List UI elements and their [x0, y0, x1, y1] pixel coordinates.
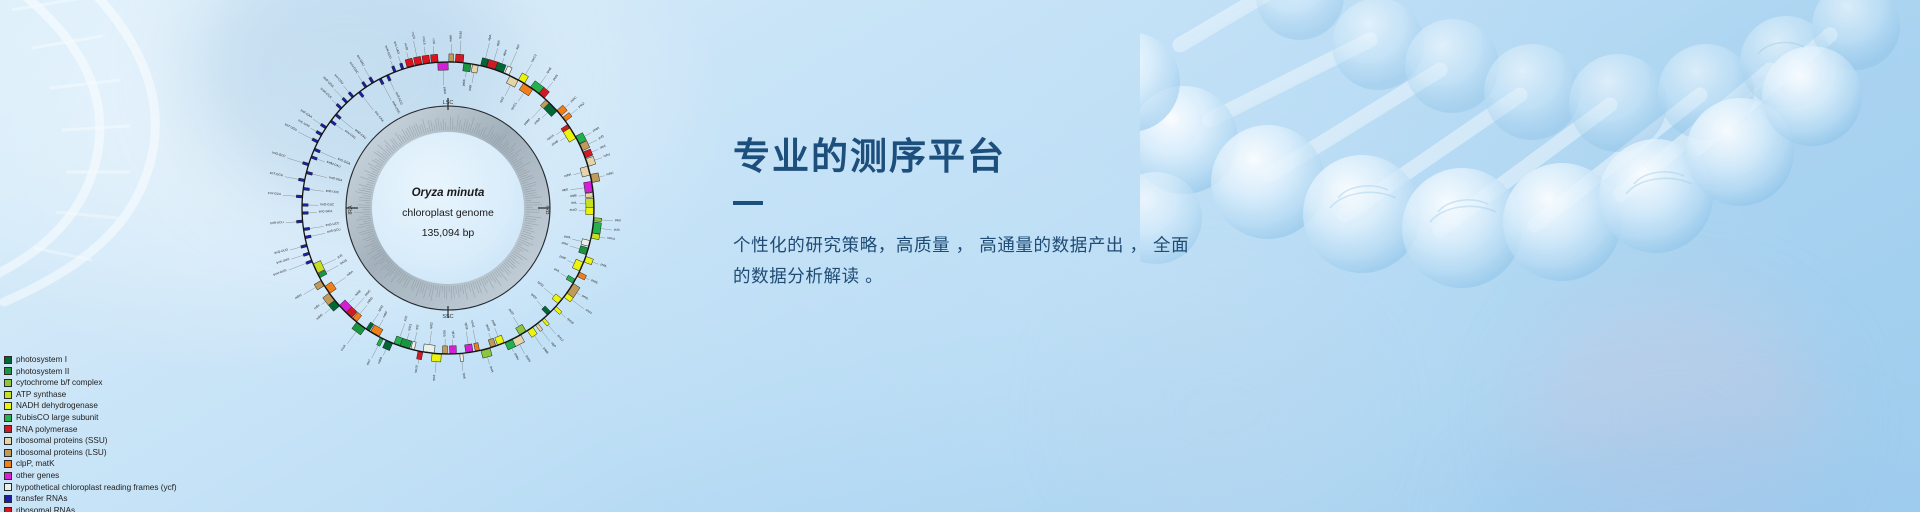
gene-feature-box — [302, 162, 308, 166]
gene-feature-box — [304, 227, 310, 230]
gene-label: psbT — [508, 308, 515, 316]
gene-label: rpl36 — [464, 322, 469, 330]
gene-leader-line — [383, 85, 391, 100]
gene-leader-line — [466, 332, 468, 344]
gene-label: trnP-UGG — [322, 76, 335, 89]
gene-leader-line — [311, 233, 325, 236]
gene-label: trnI-GAU — [356, 54, 366, 67]
gene-label: ndhA — [346, 269, 355, 277]
gene-feature-box — [455, 54, 464, 62]
gene-leader-line — [379, 320, 383, 327]
gene-leader-line — [283, 195, 296, 196]
gene-label: psbZ — [577, 101, 585, 108]
legend-color-swatch — [4, 507, 12, 512]
gene-leader-line — [561, 274, 567, 278]
gene-leader-line — [495, 328, 498, 336]
gene-label: rrn16 — [403, 43, 409, 51]
gene-leader-line — [572, 239, 581, 241]
gene-feature-box — [542, 318, 549, 326]
gene-leader-line — [489, 333, 491, 339]
gene-feature-box — [348, 92, 354, 98]
gene-label: rpl22 — [429, 322, 434, 330]
gene-feature-box — [362, 81, 367, 87]
legend-item-label: clpP, matK — [16, 458, 55, 470]
gene-leader-line — [360, 305, 367, 313]
legend-item: ATP synthase — [4, 389, 254, 401]
legend-item: ribosomal RNAs — [4, 505, 254, 512]
gene-leader-line — [600, 237, 605, 238]
gene-label: matK — [449, 34, 453, 42]
gene-label: psbH — [513, 352, 520, 360]
gene-leader-line — [289, 263, 306, 270]
gene-label: trnG-UCC — [325, 221, 340, 227]
gene-leader-line — [443, 71, 444, 86]
legend-item-label: ribosomal RNAs — [16, 505, 75, 512]
gene-feature-box — [303, 212, 309, 215]
legend-item: other genes — [4, 470, 254, 482]
genome-organism-name: Oryza minuta — [412, 187, 485, 199]
gene-leader-line — [494, 48, 498, 60]
background-blob — [1090, 300, 1350, 512]
gene-label: ndhE — [354, 289, 362, 297]
legend-item: ribosomal proteins (LSU) — [4, 447, 254, 459]
gene-label: trnF-GAA — [300, 108, 314, 119]
gene-label: ndhG — [315, 312, 324, 320]
gene-leader-line — [593, 262, 599, 264]
gene-feature-box — [336, 103, 342, 109]
gene-label: rpoA — [489, 366, 495, 374]
gene-feature-box — [342, 97, 348, 103]
gene-feature-box — [449, 54, 454, 62]
gene-label: rps3 — [432, 374, 436, 381]
gene-label: psaI — [615, 218, 621, 222]
gene-label: rpoB — [545, 67, 552, 75]
gene-leader-line — [535, 336, 542, 347]
gene-label: rpoC2 — [530, 53, 538, 63]
legend-item-label: ATP synthase — [16, 389, 66, 401]
legend-item-label: transfer RNAs — [16, 493, 67, 505]
gene-feature-box — [311, 156, 317, 160]
gene-feature-box — [352, 323, 365, 335]
gene-feature-box — [301, 244, 307, 248]
gene-leader-line — [577, 293, 580, 295]
gene-label: trnW-CCA — [320, 87, 334, 100]
gene-label: psaB — [551, 139, 559, 146]
gene-leader-line — [570, 246, 579, 249]
gene-leader-line — [542, 113, 547, 118]
gene-label: ndhH — [294, 293, 302, 300]
gene-label: petB — [491, 319, 497, 326]
genome-map-legend: photosystem Iphotosystem IIcytochrome b/… — [4, 354, 254, 512]
gene-label: ycf1 — [336, 253, 343, 259]
legend-item: photosystem II — [4, 366, 254, 378]
gene-leader-line — [513, 317, 518, 326]
legend-color-swatch — [4, 402, 12, 410]
gene-label: ndhD — [366, 295, 374, 304]
gene-leader-line — [354, 298, 364, 309]
gene-leader-line — [592, 149, 598, 152]
gene-leader-line — [570, 188, 584, 190]
gene-leader-line — [310, 189, 324, 191]
gene-label: trnC-GCA — [319, 209, 334, 214]
gene-feature-box — [584, 181, 593, 193]
gene-feature-box — [330, 120, 336, 125]
gene-label: psbK — [461, 78, 466, 86]
gene-feature-box — [320, 123, 326, 128]
gene-label: trnI-CAU — [334, 73, 345, 85]
gene-label: trnE-UUC — [326, 189, 341, 195]
gene-leader-line — [502, 58, 504, 63]
gene-leader-line — [424, 47, 425, 56]
gene-feature-box — [316, 130, 322, 135]
gene-leader-line — [407, 52, 409, 58]
gene-label: trnT-UGU — [284, 122, 298, 132]
legend-item: clpP, matK — [4, 458, 254, 470]
gene-label: trnL-UAG — [393, 41, 401, 55]
gene-feature-box — [505, 66, 512, 75]
gene-feature-box — [593, 222, 602, 234]
gene-feature-box — [405, 58, 414, 67]
gene-label: rps8 — [462, 372, 467, 379]
gene-label: rps15 — [339, 258, 348, 265]
gene-label: psaC — [364, 288, 372, 297]
gene-feature-box — [305, 235, 311, 239]
gene-label: petA — [564, 234, 572, 240]
gene-label: psbJ — [561, 240, 569, 246]
gene-leader-line — [560, 137, 566, 141]
gene-leader-line — [317, 159, 324, 162]
legend-color-swatch — [4, 472, 12, 480]
gene-label: rps18 — [566, 317, 575, 325]
gene-label: cemA — [607, 236, 616, 242]
gene-feature-box — [422, 55, 430, 63]
gene-label: trnV-GAC — [349, 61, 360, 75]
gene-feature-box — [387, 75, 392, 81]
gene-feature-box — [314, 148, 320, 153]
gene-label: psbL — [600, 262, 608, 268]
legend-color-swatch — [4, 391, 12, 399]
page-title: 专业的测序平台 — [733, 136, 1353, 179]
gene-feature-box — [449, 346, 456, 354]
gene-leader-line — [334, 89, 342, 98]
gene-label: atpA — [487, 33, 493, 41]
gene-label: trnR-UCU — [270, 220, 284, 225]
gene-leader-line — [407, 333, 409, 339]
gene-label: petD — [485, 324, 491, 332]
gene-feature-box — [442, 346, 447, 354]
gene-leader-line — [460, 41, 461, 54]
gene-feature-box — [304, 187, 310, 190]
gene-leader-line — [433, 46, 434, 54]
legend-color-swatch — [4, 414, 12, 422]
gene-feature-box — [325, 282, 336, 293]
gene-feature-box — [463, 63, 471, 71]
gene-label: trnQ-UUG — [274, 247, 289, 255]
gene-leader-line — [311, 128, 316, 131]
legend-item-label: RNA polymerase — [16, 424, 77, 436]
region-label-irb: IRB — [544, 205, 550, 215]
gene-feature-box — [585, 193, 593, 198]
gene-feature-box — [586, 198, 594, 207]
hero-description: 个性化的研究策略，高质量 ， 高通量的数据产出 ， 全面 的数据分析解读 。 — [733, 230, 1273, 292]
gene-label: rps19 — [413, 365, 418, 374]
gene-leader-line — [601, 229, 612, 230]
gene-feature-box — [411, 341, 416, 349]
gene-feature-box — [307, 171, 313, 175]
gene-leader-line — [323, 259, 336, 265]
gene-label: trnN-GUU — [384, 45, 393, 59]
gene-label: psbB — [542, 346, 549, 354]
gene-leader-line — [313, 174, 327, 178]
gene-label: atpB — [570, 193, 577, 198]
gene-label: trnY-GUA — [268, 191, 282, 196]
gene-feature-box — [566, 275, 575, 283]
legend-color-swatch — [4, 437, 12, 445]
gene-label: trnD-GUC — [320, 202, 335, 206]
gene-label: trnS-UGA — [329, 175, 344, 182]
gene-feature-box — [581, 239, 590, 246]
gene-leader-line — [321, 302, 325, 305]
gene-leader-line — [326, 265, 338, 271]
legend-item-label: ribosomal proteins (LSU) — [16, 447, 107, 459]
gene-label: atpI — [515, 44, 521, 50]
gene-label: atpF — [495, 39, 501, 46]
region-label-lsc: LSC — [443, 100, 454, 106]
gene-label: rpl33 — [537, 280, 545, 288]
gene-leader-line — [472, 73, 474, 83]
gene-leader-line — [589, 140, 597, 144]
gene-leader-line — [286, 222, 296, 223]
legend-color-swatch — [4, 460, 12, 468]
legend-item: RNA polymerase — [4, 424, 254, 436]
gene-leader-line — [298, 132, 312, 139]
gene-label: rbcL — [571, 200, 577, 204]
gene-label: ndhJ — [603, 152, 611, 158]
gene-label: rpl16 — [442, 330, 446, 337]
gene-leader-line — [518, 93, 523, 101]
gene-leader-line — [585, 133, 592, 137]
legend-color-swatch — [4, 495, 12, 503]
gene-leader-line — [556, 131, 562, 135]
legend-item: photosystem I — [4, 354, 254, 366]
chloroplast-genome-map: LSC IRA SSC IRB Oryza minuta chloroplast… — [246, 6, 650, 410]
gene-label: trnM-CAU — [354, 128, 367, 140]
gene-leader-line — [462, 362, 463, 371]
gene-label: psbN — [525, 354, 532, 362]
gene-leader-line — [542, 331, 550, 342]
gene-label: trnL-CAA — [374, 110, 385, 123]
gene-feature-box — [303, 204, 309, 207]
gene-feature-box — [594, 218, 602, 222]
gene-leader-line — [290, 247, 301, 250]
gene-label: psbM — [523, 118, 531, 127]
gene-label: atpE — [562, 187, 569, 192]
legend-item-label: hypothetical chloroplast reading frames … — [16, 482, 177, 494]
gene-label: ycf2 — [403, 315, 409, 322]
gene-label: psbE — [591, 278, 599, 285]
gene-feature-box — [379, 79, 384, 85]
gene-label: rrn4.5 — [422, 36, 427, 45]
gene-label: rps12 — [556, 334, 564, 343]
gene-feature-box — [438, 63, 449, 71]
legend-item: RubisCO large subunit — [4, 412, 254, 424]
title-divider — [733, 201, 763, 205]
hero-copy: 专业的测序平台 个性化的研究策略，高质量 ， 高通量的数据产出 ， 全面 的数据… — [733, 136, 1353, 292]
gene-feature-box — [460, 354, 464, 362]
gene-leader-line — [310, 226, 324, 228]
gene-leader-line — [292, 255, 304, 259]
gene-leader-line — [573, 173, 580, 175]
gene-leader-line — [473, 330, 476, 343]
gene-leader-line — [595, 158, 602, 160]
gene-feature-box — [312, 138, 318, 143]
gene-feature-box — [572, 259, 583, 271]
gene-leader-line — [334, 277, 346, 285]
gene-leader-line — [435, 362, 436, 373]
gene-leader-line — [391, 61, 393, 66]
gene-leader-line — [349, 298, 355, 304]
gene-feature-box — [431, 354, 441, 362]
gene-label: rpl14 — [451, 331, 455, 338]
gene-label: petL — [553, 267, 560, 274]
gene-label: rps11 — [470, 320, 475, 328]
legend-item: hypothetical chloroplast reading frames … — [4, 482, 254, 494]
gene-label: ndhI — [313, 303, 320, 310]
gene-leader-line — [344, 86, 349, 92]
legend-color-swatch — [4, 449, 12, 457]
gene-feature-box — [298, 178, 304, 182]
gene-label: ycf4 — [614, 227, 620, 232]
legend-item: ribosomal proteins (SSU) — [4, 435, 254, 447]
gene-label: rpoC1 — [510, 101, 518, 110]
hero-banner: LSC IRA SSC IRB Oryza minuta chloroplast… — [0, 0, 1920, 512]
genome-molecule-type: chloroplast genome — [402, 207, 494, 219]
genome-map-svg: LSC IRA SSC IRB Oryza minuta chloroplast… — [246, 6, 650, 410]
gene-leader-line — [313, 119, 321, 124]
gene-feature-box — [296, 195, 302, 198]
gene-feature-box — [591, 173, 600, 183]
gene-feature-box — [296, 220, 302, 223]
legend-color-swatch — [4, 425, 12, 433]
gene-leader-line — [400, 324, 405, 337]
legend-item-label: RubisCO large subunit — [16, 412, 98, 424]
gene-feature-box — [413, 56, 421, 65]
gene-feature-box — [554, 307, 562, 315]
gene-leader-line — [544, 288, 553, 296]
gene-leader-line — [414, 41, 417, 57]
gene-label: psbC — [569, 95, 578, 103]
gene-leader-line — [540, 75, 546, 84]
region-label-ira: IRA — [348, 205, 354, 215]
gene-leader-line — [415, 332, 417, 341]
gene-leader-line — [304, 287, 316, 294]
gene-feature-box — [474, 343, 480, 351]
gene-label: atpH — [502, 49, 508, 57]
gene-leader-line — [325, 308, 331, 313]
gene-label: rps4 — [599, 144, 606, 150]
gene-label: petG — [581, 294, 589, 301]
gene-label: rpl2 — [415, 324, 420, 330]
region-label-ssc: SSC — [442, 314, 453, 320]
gene-label: ndhB — [377, 356, 384, 364]
gene-leader-line — [383, 349, 386, 355]
gene-feature-box — [519, 83, 532, 95]
gene-label: rpl20 — [530, 292, 538, 300]
gene-feature-box — [586, 207, 594, 215]
gene-leader-line — [561, 313, 566, 317]
gene-label: rps16 — [458, 30, 463, 38]
legend-color-swatch — [4, 367, 12, 375]
legend-color-swatch — [4, 379, 12, 387]
gene-feature-box — [506, 76, 518, 87]
gene-label: psbA — [443, 87, 447, 95]
gene-leader-line — [599, 176, 604, 177]
gene-leader-line — [548, 325, 555, 334]
gene-label: clpP — [550, 341, 557, 348]
gene-leader-line — [586, 278, 589, 280]
gene-feature-box — [371, 325, 383, 336]
gene-feature-box — [377, 338, 383, 346]
genome-length: 135,094 bp — [422, 227, 475, 239]
legend-item-label: photosystem I — [16, 354, 67, 366]
legend-item-label: NADH dehydrogenase — [16, 400, 98, 412]
gene-label: psaA — [592, 125, 601, 132]
gene-leader-line — [512, 349, 513, 352]
gene-label: ccsA — [339, 343, 347, 352]
gene-label: trnT-GGU — [269, 171, 283, 177]
gene-leader-line — [332, 100, 336, 104]
gene-leader-line — [602, 220, 613, 221]
gene-label: rps2 — [499, 96, 505, 103]
gene-leader-line — [390, 81, 394, 91]
hero-description-line2: 的数据分析解读 。 — [733, 261, 1273, 292]
legend-item: NADH dehydrogenase — [4, 400, 254, 412]
gene-feature-box — [423, 344, 435, 353]
gene-label: trnL-UAA — [298, 118, 312, 128]
gene-label: trnH-GUG — [273, 268, 288, 277]
gene-leader-line — [347, 332, 356, 344]
gene-label: rrn5 — [432, 38, 437, 44]
legend-item: transfer RNAs — [4, 493, 254, 505]
gene-feature-box — [392, 66, 396, 72]
gene-label: ndhC — [606, 171, 615, 177]
gene-leader-line — [505, 85, 510, 95]
legend-color-swatch — [4, 483, 12, 491]
gene-label: ndhK — [564, 172, 573, 178]
gene-leader-line — [579, 196, 585, 197]
gene-leader-line — [336, 125, 343, 130]
gene-feature-box — [584, 257, 593, 265]
gene-feature-box — [369, 77, 374, 83]
gene-leader-line — [565, 104, 569, 108]
gene-leader-line — [486, 43, 490, 58]
gene-leader-line — [372, 346, 378, 358]
gene-label: psbF — [559, 254, 567, 260]
gene-label: petN — [552, 74, 559, 82]
gene-feature-box — [417, 352, 423, 360]
gene-label: rps7 — [365, 358, 371, 365]
gene-leader-line — [364, 68, 370, 77]
gene-label: rps14 — [546, 133, 555, 141]
gene-leader-line — [320, 152, 335, 159]
gene-leader-line — [532, 107, 542, 118]
gene-leader-line — [285, 177, 298, 180]
gene-feature-box — [536, 324, 543, 332]
gene-leader-line — [537, 301, 543, 307]
gene-leader-line — [571, 109, 578, 114]
gene-leader-line — [547, 82, 553, 89]
gene-feature-box — [303, 252, 309, 256]
